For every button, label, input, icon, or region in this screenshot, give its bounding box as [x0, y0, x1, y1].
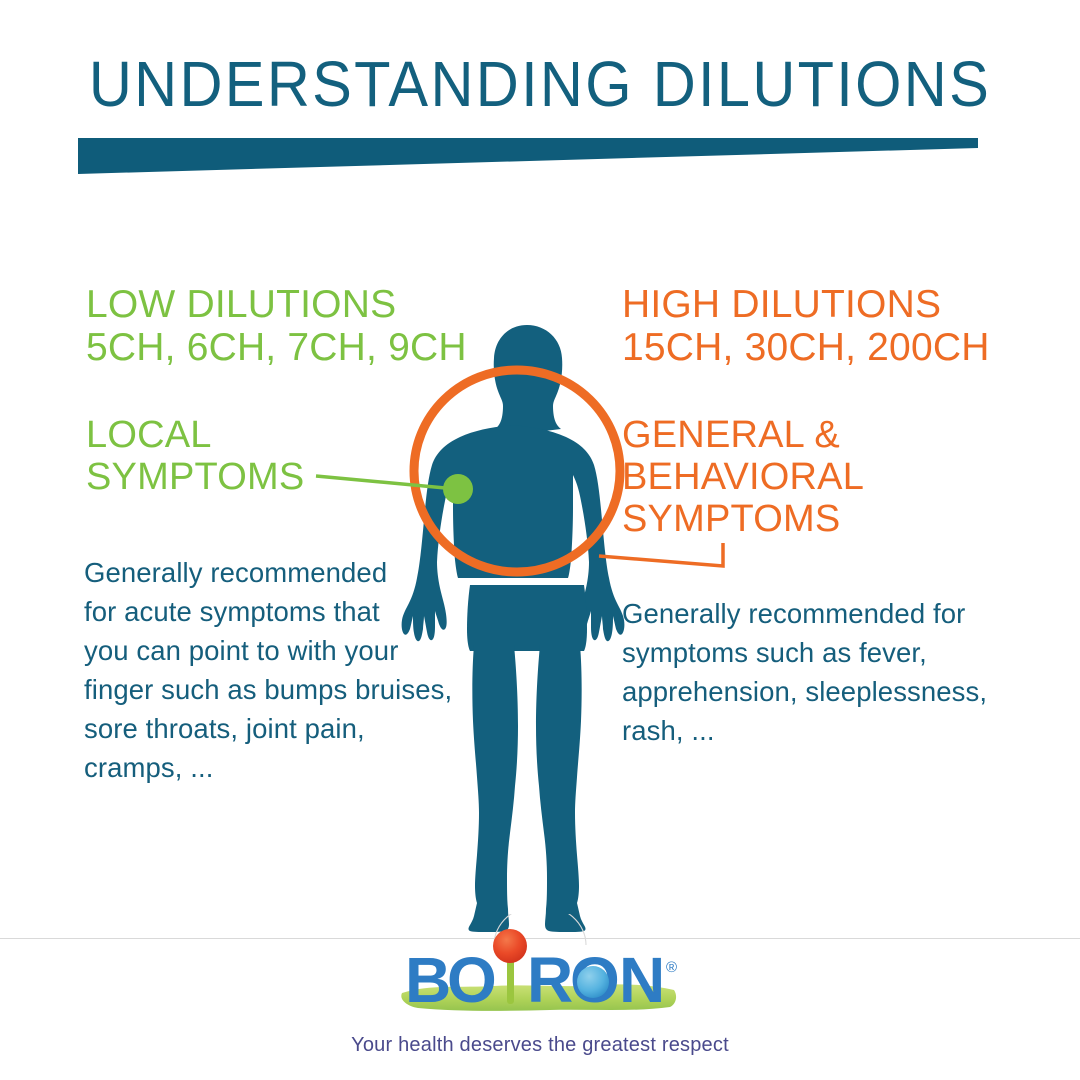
svg-text:B: B	[405, 944, 452, 1016]
brand-tagline: Your health deserves the greatest respec…	[0, 1034, 1080, 1057]
logo-flower-head	[493, 929, 527, 963]
page-title: UNDERSTANDING DILUTIONS	[38, 52, 1042, 116]
logo-blue-dot	[577, 966, 609, 998]
boiron-logo: B O R O N ®	[390, 914, 690, 1019]
green-local-symptom-dot	[443, 474, 473, 504]
low-dilutions-heading: LOW DILUTIONS 5CH, 6CH, 7CH, 9CH	[86, 284, 467, 370]
local-symptoms-description: Generally recommended for acute symptoms…	[84, 553, 484, 787]
local-symptoms-heading: LOCAL SYMPTOMS	[86, 415, 304, 499]
header: UNDERSTANDING DILUTIONS	[0, 0, 1080, 200]
orange-highlight-circle	[414, 370, 620, 572]
green-connector-line	[316, 476, 456, 489]
high-dilutions-heading: HIGH DILUTIONS 15CH, 30CH, 200CH	[622, 284, 990, 370]
orange-connector-line	[599, 543, 723, 566]
logo-wordmark: B O R O N	[405, 944, 666, 1016]
infographic-page: UNDERSTANDING DILUTIONS LOW DILU	[0, 0, 1080, 1080]
general-symptoms-description: Generally recommended for symptoms such …	[622, 594, 1012, 750]
svg-text:R: R	[527, 944, 574, 1016]
boiron-logo-artwork: B O R O N ®	[390, 914, 690, 1019]
footer: B O R O N ® Your health deserves the gre…	[0, 900, 1080, 1080]
svg-text:N: N	[619, 944, 666, 1016]
svg-text:O: O	[447, 944, 498, 1016]
title-underline-wedge	[78, 136, 978, 178]
registered-mark: ®	[666, 959, 677, 976]
general-behavioral-symptoms-heading: GENERAL & BEHAVIORAL SYMPTOMS	[622, 415, 864, 540]
